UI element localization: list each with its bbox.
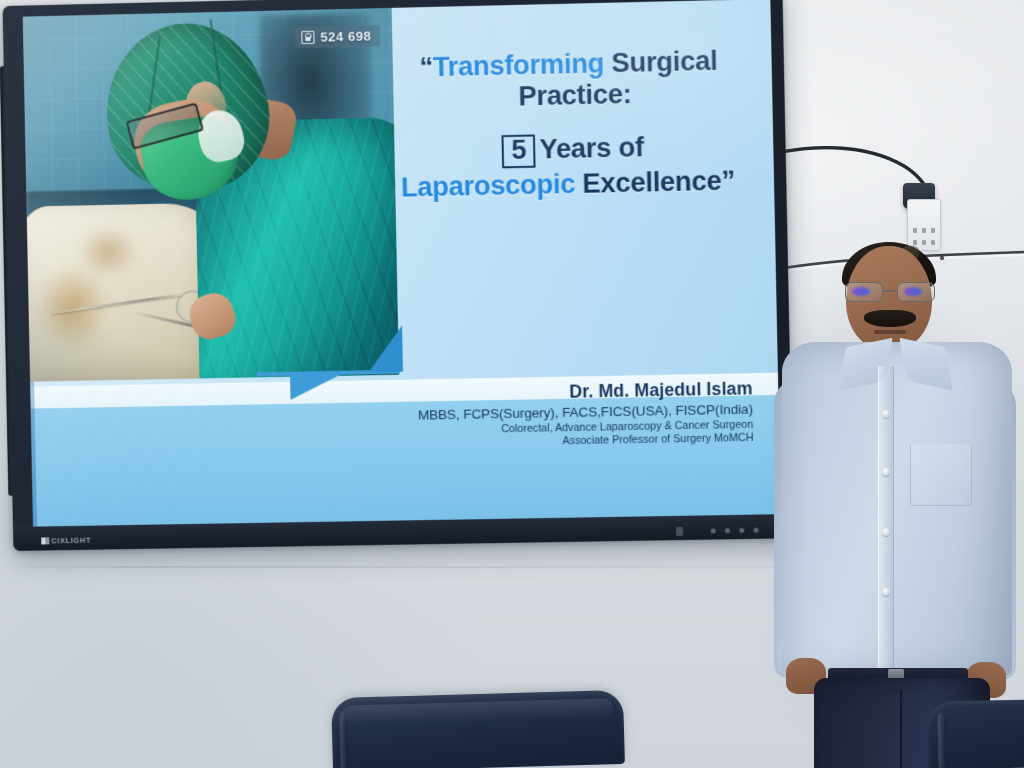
surgery-photo [23,8,399,381]
wall-display[interactable]: 524 698 “Transforming Surgical Practice:… [3,0,794,551]
presenter-shirt [782,342,1012,676]
title-word-transforming: Transforming [433,48,605,82]
power-led-icon [711,528,716,533]
screen-id-badge: 524 698 [295,25,381,48]
slide-author-block: Dr. Md. Majedul Islam MBBS, FCPS(Surgery… [283,378,754,452]
save-floppy-icon [301,31,314,44]
slide-title: “Transforming Surgical Practice: 5Years … [396,46,751,202]
room-scene: 524 698 “Transforming Surgical Practice:… [0,0,1024,768]
title-word-laparoscopic: Laparoscopic [401,168,576,202]
presenter-glasses [840,282,940,304]
display-brand-label: CIXLIGHT [41,536,91,546]
display-key-3[interactable] [754,528,759,533]
chair-right [927,699,1024,768]
accent-triangle-right [367,326,402,373]
ir-receiver-icon [676,527,683,536]
chair-left [331,690,625,768]
title-line1-rest: Surgical [604,46,718,79]
title-line3-rest: Years of [539,132,644,164]
display-key-1[interactable] [725,528,730,533]
title-line2: Practice: [518,78,632,111]
presentation-slide: 524 698 “Transforming Surgical Practice:… [23,0,781,527]
presenter [770,238,1024,768]
display-control-keys[interactable] [711,528,759,534]
screen-id-value: 524 698 [320,28,371,44]
title-year-count: 5 [502,135,536,168]
display-screen[interactable]: 524 698 “Transforming Surgical Practice:… [23,0,781,527]
brand-mark-icon [41,537,49,544]
title-open-quote: “ [419,52,433,82]
presenter-moustache [864,310,916,327]
presenter-shirt-pocket [910,444,972,506]
title-line4-rest: Excellence” [575,165,735,199]
display-key-2[interactable] [739,528,744,533]
